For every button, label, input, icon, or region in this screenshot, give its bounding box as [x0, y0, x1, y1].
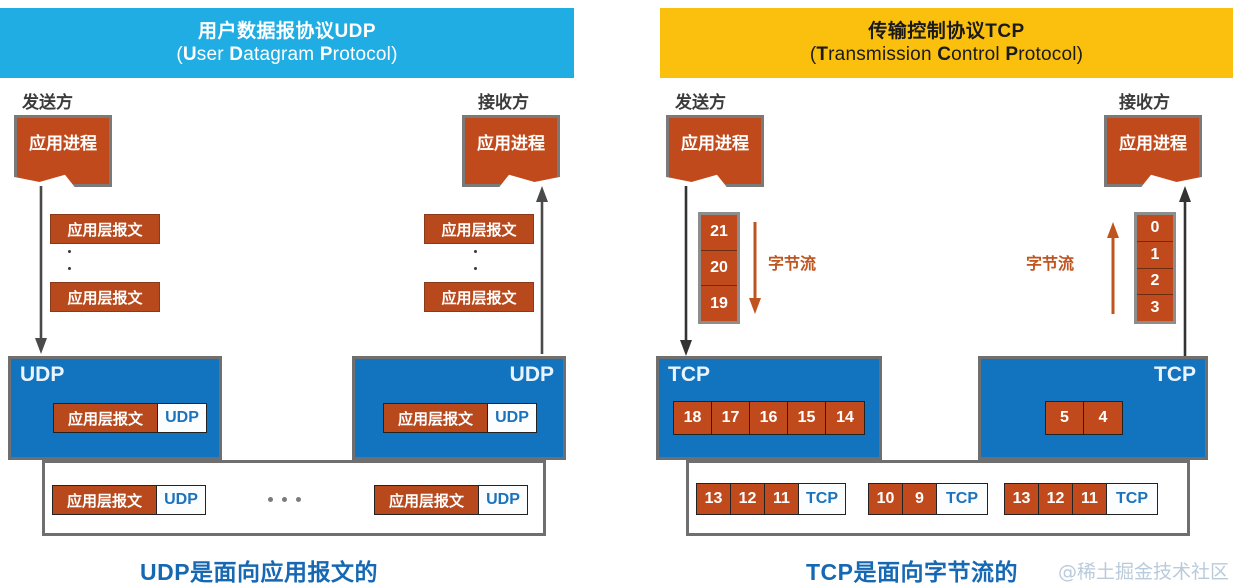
udp-receiver-datagram: 应用层报文 UDP	[383, 403, 537, 433]
udp-receiver-app-process: 应用进程	[462, 115, 560, 187]
tcp-sender-buffer-byte: 16	[750, 402, 788, 434]
udp-sender-label: 发送方	[22, 88, 73, 113]
udp-sender-message-2: 应用层报文	[50, 282, 160, 312]
udp-banner: 用户数据报协议UDP (User Datagram Protocol)	[0, 8, 574, 78]
tcp-sender-bytestream-arrow	[748, 222, 762, 316]
udp-receiver-message-1: 应用层报文	[424, 214, 534, 244]
tcp-receiver-transport-label: TCP	[1154, 363, 1196, 387]
tcp-sender-buffer-byte: 14	[826, 402, 864, 434]
tcp-sender-bytestream-label: 字节流	[768, 250, 816, 274]
tcp-segment-header: TCP	[799, 484, 845, 514]
udp-sender-transport-label: UDP	[20, 363, 64, 387]
tcp-receiver-label: 接收方	[1119, 88, 1170, 113]
tcp-segment-byte: 10	[869, 484, 903, 514]
tcp-receiver-byte: 1	[1137, 242, 1173, 269]
site-watermark: @稀土掘金技术社区	[1058, 557, 1229, 584]
tcp-banner-title-en: (Transmission Control Protocol)	[810, 44, 1083, 65]
udp-sender-datagram: 应用层报文 UDP	[53, 403, 207, 433]
udp-banner-title-en: (User Datagram Protocol)	[176, 44, 397, 65]
udp-sender-flow-arrow	[34, 186, 48, 356]
tcp-segment-header: TCP	[1107, 484, 1157, 514]
udp-wire-ellipsis	[268, 497, 301, 502]
tcp-sender-byte: 20	[701, 251, 737, 287]
tcp-segment-byte: 13	[1005, 484, 1039, 514]
tcp-receiver-byte: 0	[1137, 215, 1173, 242]
tcp-sender-flow-arrow	[679, 186, 693, 358]
tcp-sender-buffer-byte: 18	[674, 402, 712, 434]
tcp-receiver-byte-stack: 0 1 2 3	[1134, 212, 1176, 324]
tcp-receiver-buffer-byte: 4	[1084, 402, 1122, 434]
tcp-wire-segment-3: 13 12 11 TCP	[1004, 483, 1158, 515]
udp-panel: 用户数据报协议UDP (User Datagram Protocol) 发送方 …	[0, 0, 616, 588]
tcp-receiver-buffer-byte: 5	[1046, 402, 1084, 434]
tcp-segment-byte: 13	[697, 484, 731, 514]
udp-sender-message-1: 应用层报文	[50, 214, 160, 244]
udp-receiver-message-ellipsis	[472, 250, 478, 286]
tcp-receiver-flow-arrow	[1178, 186, 1192, 358]
udp-wire-header: UDP	[157, 486, 205, 514]
tcp-caption: TCP是面向字节流的	[806, 553, 1018, 587]
tcp-segment-byte: 12	[731, 484, 765, 514]
tcp-sender-app-process: 应用进程	[666, 115, 764, 187]
tcp-sender-buffer-byte: 15	[788, 402, 826, 434]
tcp-receiver-app-process: 应用进程	[1104, 115, 1202, 187]
tcp-receiver-buffer: 5 4	[1045, 401, 1123, 435]
udp-sender-transport-box: UDP 应用层报文 UDP	[8, 356, 222, 460]
tcp-receiver-byte: 3	[1137, 295, 1173, 321]
tcp-segment-byte: 9	[903, 484, 937, 514]
transport-protocol-comparison-diagram: 用户数据报协议UDP (User Datagram Protocol) 发送方 …	[0, 0, 1233, 588]
tcp-receiver-byte: 2	[1137, 269, 1173, 296]
udp-wire-header: UDP	[479, 486, 527, 514]
udp-sender-app-process: 应用进程	[14, 115, 112, 187]
tcp-receiver-bytestream-arrow	[1106, 222, 1120, 316]
udp-receiver-transport-label: UDP	[510, 363, 554, 387]
udp-receiver-message-2: 应用层报文	[424, 282, 534, 312]
tcp-sender-transport-label: TCP	[668, 363, 710, 387]
tcp-banner: 传输控制协议TCP (Transmission Control Protocol…	[660, 8, 1233, 78]
tcp-sender-byte-stack: 21 20 19	[698, 212, 740, 324]
tcp-sender-buffer: 18 17 16 15 14	[673, 401, 865, 435]
udp-datagram-header: UDP	[158, 404, 206, 432]
tcp-panel: 传输控制协议TCP (Transmission Control Protocol…	[640, 0, 1233, 588]
udp-receiver-flow-arrow	[535, 186, 549, 356]
udp-receiver-label: 接收方	[478, 88, 529, 113]
udp-datagram-header: UDP	[488, 404, 536, 432]
tcp-sender-buffer-byte: 17	[712, 402, 750, 434]
tcp-receiver-transport-box: TCP 5 4	[978, 356, 1208, 460]
udp-receiver-transport-box: UDP 应用层报文 UDP	[352, 356, 566, 460]
tcp-wire-segment-2: 10 9 TCP	[868, 483, 988, 515]
tcp-sender-transport-box: TCP 18 17 16 15 14	[656, 356, 882, 460]
udp-banner-title-cn: 用户数据报协议UDP	[198, 21, 376, 42]
tcp-receiver-bytestream-label: 字节流	[1026, 250, 1074, 274]
udp-sender-message-ellipsis	[66, 250, 72, 286]
tcp-segment-byte: 11	[765, 484, 799, 514]
tcp-segment-byte: 11	[1073, 484, 1107, 514]
udp-datagram-payload: 应用层报文	[384, 404, 488, 432]
udp-caption: UDP是面向应用报文的	[140, 553, 378, 587]
udp-wire-datagram-2: 应用层报文 UDP	[374, 485, 528, 515]
tcp-sender-byte: 19	[701, 286, 737, 321]
udp-wire-datagram-1: 应用层报文 UDP	[52, 485, 206, 515]
tcp-sender-label: 发送方	[675, 88, 726, 113]
tcp-segment-header: TCP	[937, 484, 987, 514]
udp-wire-payload: 应用层报文	[375, 486, 479, 514]
tcp-segment-byte: 12	[1039, 484, 1073, 514]
tcp-banner-title-cn: 传输控制协议TCP	[868, 21, 1025, 42]
udp-datagram-payload: 应用层报文	[54, 404, 158, 432]
tcp-wire-segment-1: 13 12 11 TCP	[696, 483, 846, 515]
tcp-sender-byte: 21	[701, 215, 737, 251]
udp-wire-payload: 应用层报文	[53, 486, 157, 514]
